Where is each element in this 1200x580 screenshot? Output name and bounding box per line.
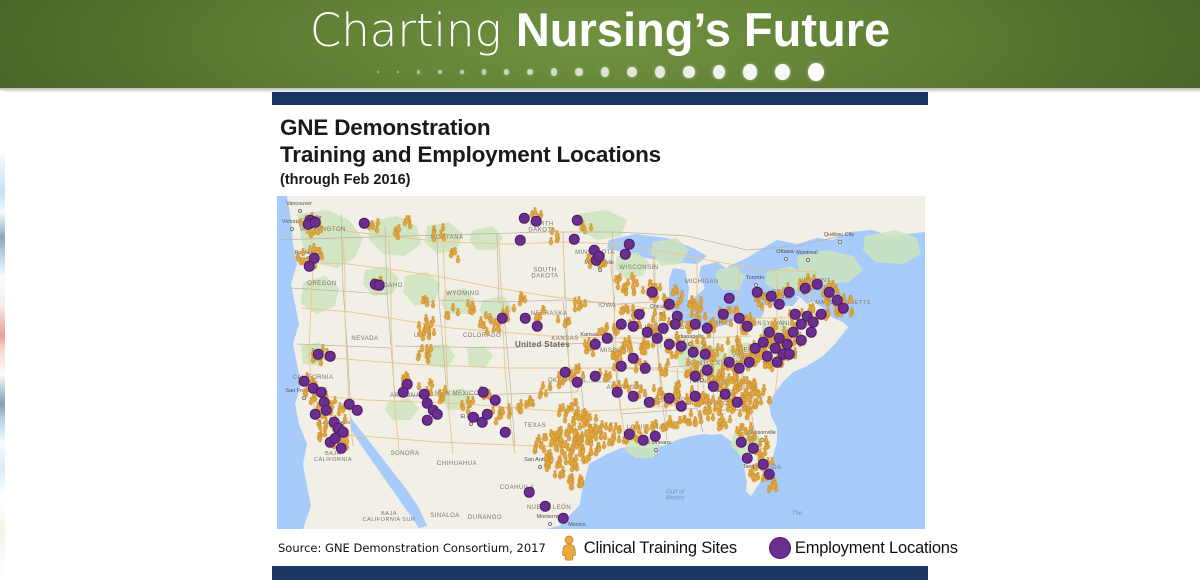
- person-marker-icon[interactable]: [588, 223, 595, 232]
- circle-marker-icon[interactable]: [313, 349, 324, 360]
- person-marker-icon[interactable]: [531, 206, 538, 215]
- circle-marker-icon[interactable]: [702, 323, 713, 334]
- person-marker-icon[interactable]: [766, 484, 773, 493]
- circle-marker-icon[interactable]: [569, 234, 580, 245]
- map-place-label: SONORA: [390, 451, 419, 457]
- map-place-label: NEVADA: [351, 336, 378, 342]
- banner-dot: [713, 65, 726, 79]
- slide-bottom-bar: [272, 566, 928, 580]
- circle-marker-icon[interactable]: [702, 365, 713, 376]
- circle-marker-icon[interactable]: [590, 339, 601, 350]
- person-marker-icon[interactable]: [521, 294, 528, 303]
- circle-marker-icon[interactable]: [742, 453, 753, 464]
- slide-top-bar: [272, 92, 928, 105]
- person-marker-icon[interactable]: [720, 418, 727, 427]
- map-place-label: CHIHUAHUA: [437, 461, 477, 467]
- circle-marker-icon[interactable]: [540, 501, 551, 512]
- person-marker-icon[interactable]: [468, 301, 475, 310]
- map-city-dot: [548, 522, 552, 526]
- person-marker-icon[interactable]: [737, 408, 744, 417]
- map-place-label: Toronto: [746, 276, 764, 282]
- person-marker-icon[interactable]: [617, 306, 624, 315]
- map-city-dot: [700, 378, 704, 382]
- person-marker-icon[interactable]: [583, 454, 590, 463]
- person-marker-icon[interactable]: [631, 288, 638, 297]
- person-marker-icon[interactable]: [534, 437, 541, 446]
- circle-marker-icon[interactable]: [724, 357, 735, 368]
- person-marker-icon[interactable]: [451, 246, 458, 255]
- circle-marker-icon[interactable]: [718, 309, 729, 320]
- circle-marker-icon[interactable]: [330, 433, 341, 444]
- banner-dot: [655, 66, 666, 78]
- slide-subtitle: (through Feb 2016): [280, 170, 920, 191]
- person-marker-icon[interactable]: [549, 227, 556, 236]
- map-city-dot: [806, 258, 810, 262]
- map-place-label: OREGON: [307, 281, 337, 287]
- circle-marker-icon[interactable]: [796, 335, 807, 346]
- circle-marker-icon[interactable]: [519, 213, 530, 224]
- circle-marker-icon[interactable]: [572, 377, 583, 388]
- person-marker-icon[interactable]: [752, 472, 759, 481]
- person-marker-icon[interactable]: [554, 314, 561, 323]
- map-city-dot: [290, 227, 294, 231]
- person-marker-icon[interactable]: [719, 377, 726, 386]
- page-edge-strip: [0, 90, 5, 580]
- circle-marker-icon[interactable]: [321, 405, 332, 416]
- circle-marker-icon[interactable]: [782, 339, 793, 350]
- circle-marker-icon[interactable]: [742, 321, 753, 332]
- person-marker-icon[interactable]: [566, 450, 573, 459]
- circle-marker-icon[interactable]: [676, 341, 687, 352]
- circle-marker-icon[interactable]: [658, 323, 669, 334]
- person-marker-icon[interactable]: [662, 369, 669, 378]
- person-marker-icon[interactable]: [573, 454, 580, 463]
- person-marker-icon[interactable]: [706, 405, 713, 414]
- circle-marker-icon[interactable]: [647, 287, 658, 298]
- circle-marker-icon[interactable]: [590, 371, 601, 382]
- person-marker-icon[interactable]: [455, 254, 462, 263]
- circle-marker-icon[interactable]: [572, 215, 583, 226]
- person-marker-icon[interactable]: [678, 289, 685, 298]
- circle-marker-icon[interactable]: [560, 367, 571, 378]
- map-place-label: IOWA: [598, 303, 616, 309]
- circle-marker-icon[interactable]: [616, 319, 627, 330]
- person-marker-icon[interactable]: [492, 417, 499, 426]
- person-marker-icon[interactable]: [544, 463, 551, 472]
- person-marker-icon[interactable]: [479, 321, 486, 330]
- circle-marker-icon[interactable]: [638, 435, 649, 446]
- circle-marker-icon[interactable]: [688, 347, 699, 358]
- banner-dot: [775, 64, 790, 81]
- circle-marker-icon[interactable]: [304, 261, 315, 272]
- circle-marker-icon[interactable]: [531, 216, 542, 227]
- person-marker-icon[interactable]: [759, 387, 766, 396]
- banner-title-thin: Charting: [310, 4, 516, 57]
- circle-marker-icon[interactable]: [758, 459, 769, 470]
- person-marker-icon[interactable]: [758, 397, 765, 406]
- person-marker-icon[interactable]: [581, 299, 588, 308]
- circle-marker-icon[interactable]: [732, 397, 743, 408]
- person-marker-icon[interactable]: [568, 403, 575, 412]
- circle-marker-icon[interactable]: [764, 327, 775, 338]
- circle-marker-icon[interactable]: [602, 333, 613, 344]
- person-marker-icon[interactable]: [572, 296, 579, 305]
- person-marker-icon[interactable]: [656, 387, 663, 396]
- circle-marker-icon[interactable]: [624, 239, 635, 250]
- banner-dot: [627, 67, 637, 78]
- person-marker-icon[interactable]: [315, 227, 322, 236]
- person-marker-icon[interactable]: [709, 394, 716, 403]
- circle-marker-icon[interactable]: [784, 349, 795, 360]
- circle-marker-icon[interactable]: [838, 303, 849, 314]
- banner-dot: [683, 66, 695, 79]
- person-marker-icon[interactable]: [425, 325, 432, 334]
- map-city-dot: [838, 240, 842, 244]
- person-marker-icon[interactable]: [556, 381, 563, 390]
- circle-marker-icon[interactable]: [790, 309, 801, 320]
- person-marker-icon: [558, 535, 580, 561]
- slide-title-line2: Training and Employment Locations: [280, 141, 920, 168]
- person-marker-icon[interactable]: [698, 295, 705, 304]
- person-marker-icon[interactable]: [701, 312, 708, 321]
- banner-dot: [601, 67, 610, 77]
- circle-marker-icon[interactable]: [624, 429, 635, 440]
- circle-marker-icon[interactable]: [352, 405, 363, 416]
- person-marker-icon[interactable]: [394, 232, 401, 241]
- person-marker-icon[interactable]: [568, 477, 575, 486]
- circle-marker-icon[interactable]: [762, 351, 773, 362]
- circle-marker-icon[interactable]: [774, 299, 785, 310]
- person-marker-icon[interactable]: [592, 447, 599, 456]
- circle-marker-icon[interactable]: [670, 319, 681, 330]
- circle-marker-icon[interactable]: [676, 401, 687, 412]
- circle-marker-icon[interactable]: [806, 327, 817, 338]
- circle-marker-icon: [769, 537, 791, 559]
- map-place-label: BAJA CALIFORNIA: [314, 452, 352, 464]
- circle-marker-icon[interactable]: [620, 249, 631, 260]
- map-place-label: WISCONSIN: [619, 265, 658, 271]
- us-map[interactable]: VancouverVictoriaSeattleWASHINGTONPortla…: [277, 196, 925, 529]
- person-marker-icon[interactable]: [431, 328, 438, 337]
- map-place-label: SINALOA: [430, 513, 460, 519]
- person-marker-icon[interactable]: [602, 373, 609, 382]
- person-marker-icon[interactable]: [675, 380, 682, 389]
- circle-marker-icon[interactable]: [628, 391, 639, 402]
- circle-marker-icon[interactable]: [784, 287, 795, 298]
- person-marker-icon[interactable]: [438, 230, 445, 239]
- person-marker-icon[interactable]: [848, 295, 855, 304]
- person-marker-icon[interactable]: [766, 396, 773, 405]
- person-marker-icon[interactable]: [486, 312, 493, 321]
- person-marker-icon[interactable]: [556, 459, 563, 468]
- circle-marker-icon[interactable]: [628, 321, 639, 332]
- banner-title: Charting Nursing’s Future: [0, 2, 1200, 60]
- person-marker-icon[interactable]: [733, 385, 740, 394]
- map-marker-overlay[interactable]: VancouverVictoriaSeattleWASHINGTONPortla…: [277, 196, 925, 529]
- person-marker-icon[interactable]: [600, 441, 607, 450]
- circle-marker-icon[interactable]: [432, 409, 443, 420]
- circle-marker-icon[interactable]: [612, 387, 623, 398]
- circle-marker-icon[interactable]: [650, 431, 661, 442]
- person-marker-icon[interactable]: [735, 337, 742, 346]
- person-marker-icon[interactable]: [430, 299, 437, 308]
- circle-marker-icon[interactable]: [700, 349, 711, 360]
- circle-marker-icon[interactable]: [816, 309, 827, 320]
- banner-dot: [438, 70, 442, 74]
- person-marker-icon[interactable]: [439, 393, 446, 402]
- map-place-label: WYOMING: [446, 291, 480, 297]
- circle-marker-icon[interactable]: [724, 293, 735, 304]
- circle-marker-icon[interactable]: [640, 363, 651, 374]
- legend-label-clinical: Clinical Training Sites: [584, 539, 737, 558]
- circle-marker-icon[interactable]: [524, 487, 535, 498]
- person-marker-icon[interactable]: [403, 214, 410, 223]
- person-marker-icon[interactable]: [632, 381, 639, 390]
- circle-marker-icon[interactable]: [310, 217, 321, 228]
- circle-marker-icon[interactable]: [744, 357, 755, 368]
- map-place-label: MICHIGAN: [685, 279, 719, 285]
- circle-marker-icon[interactable]: [520, 313, 531, 324]
- map-city-dot: [298, 209, 302, 213]
- circle-marker-icon[interactable]: [772, 357, 783, 368]
- slide-container: GNE Demonstration Training and Employmen…: [272, 92, 928, 580]
- person-marker-icon[interactable]: [652, 420, 659, 429]
- person-marker-icon[interactable]: [613, 421, 620, 430]
- person-marker-icon[interactable]: [527, 396, 534, 405]
- person-marker-icon[interactable]: [747, 406, 754, 415]
- banner-dot: [808, 63, 824, 81]
- circle-marker-icon[interactable]: [690, 391, 701, 402]
- circle-marker-icon[interactable]: [616, 361, 627, 372]
- circle-marker-icon[interactable]: [800, 283, 811, 294]
- banner-dot: [551, 68, 558, 75]
- banner-dot: [527, 69, 533, 75]
- person-marker-icon[interactable]: [549, 430, 556, 439]
- person-marker-icon[interactable]: [429, 315, 436, 324]
- circle-marker-icon[interactable]: [628, 353, 639, 364]
- map-place-label: SOUTH DAKOTA: [531, 268, 558, 281]
- person-marker-icon[interactable]: [623, 287, 630, 296]
- map-place-label: COLORADO: [463, 333, 501, 339]
- person-marker-icon[interactable]: [724, 337, 731, 346]
- map-place-label: TEXAS: [524, 423, 546, 429]
- circle-marker-icon[interactable]: [490, 395, 501, 406]
- person-marker-icon[interactable]: [428, 343, 435, 352]
- legend-label-employment: Employment Locations: [795, 539, 958, 558]
- circle-marker-icon[interactable]: [690, 319, 701, 330]
- circle-marker-icon[interactable]: [690, 371, 701, 382]
- person-marker-icon[interactable]: [431, 227, 438, 236]
- person-marker-icon[interactable]: [671, 284, 678, 293]
- person-marker-icon[interactable]: [696, 409, 703, 418]
- person-marker-icon[interactable]: [739, 422, 746, 431]
- circle-marker-icon[interactable]: [634, 309, 645, 320]
- map-city-dot: [538, 465, 542, 469]
- circle-marker-icon[interactable]: [316, 387, 327, 398]
- circle-marker-icon[interactable]: [310, 409, 321, 420]
- map-place-label: Ottawa: [776, 250, 793, 256]
- circle-marker-icon[interactable]: [750, 343, 761, 354]
- banner-dot: [743, 64, 757, 79]
- map-city-dot: [784, 257, 788, 261]
- circle-marker-icon[interactable]: [482, 409, 493, 420]
- person-marker-icon[interactable]: [450, 302, 457, 311]
- person-marker-icon[interactable]: [442, 311, 449, 320]
- source-citation: Source: GNE Demonstration Consortium, 20…: [278, 541, 546, 555]
- circle-marker-icon[interactable]: [664, 393, 675, 404]
- circle-marker-icon[interactable]: [558, 513, 569, 524]
- circle-marker-icon[interactable]: [325, 351, 336, 362]
- circle-marker-icon[interactable]: [515, 235, 526, 246]
- person-marker-icon[interactable]: [724, 403, 731, 412]
- person-marker-icon[interactable]: [307, 396, 314, 405]
- circle-marker-icon[interactable]: [422, 415, 433, 426]
- slide-title-block: GNE Demonstration Training and Employmen…: [280, 114, 920, 191]
- circle-marker-icon[interactable]: [736, 437, 747, 448]
- person-marker-icon[interactable]: [634, 420, 641, 429]
- person-marker-icon[interactable]: [751, 431, 758, 440]
- person-marker-icon[interactable]: [517, 405, 524, 414]
- person-marker-icon[interactable]: [560, 402, 567, 411]
- person-marker-icon[interactable]: [614, 281, 621, 290]
- circle-marker-icon[interactable]: [652, 333, 663, 344]
- person-marker-icon[interactable]: [465, 396, 472, 405]
- circle-marker-icon[interactable]: [532, 321, 543, 332]
- person-marker-icon[interactable]: [557, 434, 564, 443]
- banner-dot: [504, 69, 509, 75]
- circle-marker-icon[interactable]: [764, 469, 775, 480]
- map-place-label: Vancouver: [286, 202, 312, 208]
- banner-dot: [460, 70, 464, 74]
- legend-item-employment: Employment Locations: [769, 537, 958, 559]
- map-place-label: Montreal: [796, 251, 817, 257]
- map-legend: Source: GNE Demonstration Consortium, 20…: [272, 532, 928, 564]
- map-place-label: Mexico: [568, 523, 585, 529]
- banner-dot: [377, 71, 379, 73]
- banner-dot: [417, 70, 420, 73]
- map-place-label: Québec City: [824, 233, 854, 239]
- person-marker-icon[interactable]: [622, 378, 629, 387]
- circle-marker-icon[interactable]: [374, 280, 385, 291]
- person-marker-icon[interactable]: [710, 354, 717, 363]
- circle-marker-icon[interactable]: [642, 327, 653, 338]
- banner-title-bold: Nursing’s Future: [516, 3, 890, 56]
- circle-marker-icon[interactable]: [708, 381, 719, 392]
- circle-marker-icon[interactable]: [497, 313, 508, 324]
- map-city-dot: [654, 448, 658, 452]
- person-marker-icon[interactable]: [747, 422, 754, 431]
- person-marker-icon[interactable]: [541, 306, 548, 315]
- circle-marker-icon[interactable]: [594, 251, 605, 262]
- circle-marker-icon[interactable]: [478, 387, 489, 398]
- circle-marker-icon[interactable]: [734, 363, 745, 374]
- legend-item-clinical: Clinical Training Sites: [558, 535, 737, 561]
- circle-marker-icon[interactable]: [748, 443, 759, 454]
- circle-marker-icon[interactable]: [664, 299, 675, 310]
- person-marker-icon[interactable]: [847, 308, 854, 317]
- person-marker-icon[interactable]: [587, 439, 594, 448]
- person-marker-icon[interactable]: [546, 382, 553, 391]
- person-marker-icon[interactable]: [762, 435, 769, 444]
- banner-dot: [575, 68, 583, 76]
- map-country-label: United States: [515, 340, 570, 349]
- circle-marker-icon[interactable]: [500, 427, 511, 438]
- circle-marker-icon[interactable]: [644, 397, 655, 408]
- site-banner: Charting Nursing’s Future: [0, 0, 1200, 88]
- person-marker-icon[interactable]: [597, 431, 604, 440]
- person-marker-icon[interactable]: [374, 218, 381, 227]
- person-marker-icon[interactable]: [700, 391, 707, 400]
- banner-dot-row: [0, 58, 1200, 86]
- circle-marker-icon[interactable]: [752, 287, 763, 298]
- circle-marker-icon[interactable]: [720, 389, 731, 400]
- person-marker-icon[interactable]: [562, 320, 569, 329]
- circle-marker-icon[interactable]: [398, 387, 409, 398]
- person-marker-icon[interactable]: [578, 476, 585, 485]
- person-marker-icon[interactable]: [295, 253, 302, 262]
- slide-title-line1: GNE Demonstration: [280, 114, 920, 141]
- person-marker-icon[interactable]: [685, 418, 692, 427]
- map-city-dot: [469, 422, 473, 426]
- person-marker-icon[interactable]: [639, 347, 646, 356]
- circle-marker-icon[interactable]: [336, 443, 347, 454]
- person-marker-icon[interactable]: [772, 318, 779, 327]
- map-place-label: BAJA CALIFORNIA SUR: [363, 512, 416, 524]
- circle-marker-icon[interactable]: [664, 339, 675, 350]
- person-marker-icon[interactable]: [317, 422, 324, 431]
- person-marker-icon[interactable]: [316, 434, 323, 443]
- person-marker-icon[interactable]: [714, 343, 721, 352]
- person-marker-icon[interactable]: [621, 337, 628, 346]
- circle-marker-icon[interactable]: [812, 279, 823, 290]
- person-marker-icon[interactable]: [613, 348, 620, 357]
- person-marker-icon[interactable]: [665, 358, 672, 367]
- person-marker-icon[interactable]: [809, 302, 816, 311]
- person-marker-icon[interactable]: [652, 308, 659, 317]
- banner-dot: [397, 71, 400, 74]
- map-place-label: The: [792, 511, 802, 517]
- circle-marker-icon[interactable]: [359, 218, 370, 229]
- banner-dot: [482, 69, 487, 74]
- map-place-label: Gulf of Mexico: [665, 490, 684, 503]
- map-place-label: DURANGO: [468, 515, 502, 521]
- person-marker-icon[interactable]: [414, 352, 421, 361]
- map-place-label: IDAHO: [381, 283, 403, 289]
- person-marker-icon[interactable]: [667, 414, 674, 423]
